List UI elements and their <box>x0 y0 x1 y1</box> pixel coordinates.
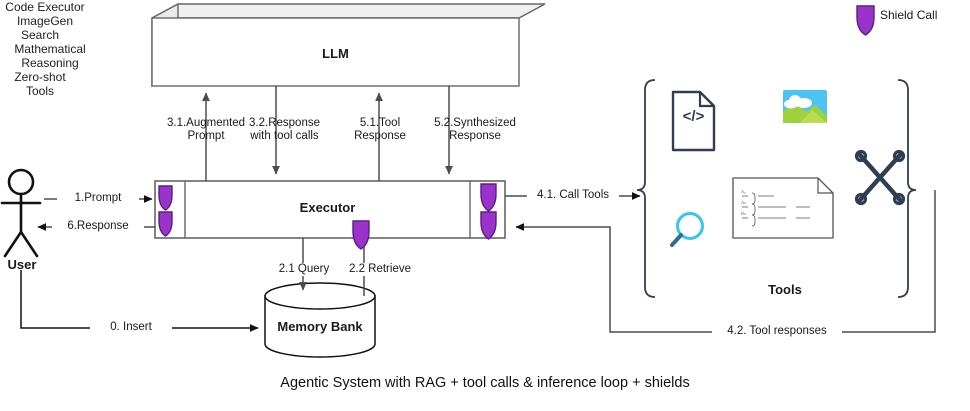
tools-group-label: Tools <box>730 283 840 296</box>
executor-label: Executor <box>185 201 470 214</box>
code-glyph: </> <box>673 108 714 125</box>
svg-text:Aₙ: Aₙ <box>741 200 746 205</box>
diagram-vector-layer: A₀ Aₙ Bₙ <box>0 0 970 411</box>
legend-label: Shield Call <box>880 9 965 22</box>
edge-label-5-1: 5.1.Tool Response <box>334 117 426 143</box>
diagram-canvas: A₀ Aₙ Bₙ <box>0 0 970 411</box>
edge-0-insert <box>21 270 258 328</box>
formula-document-icon: A₀ Aₙ Bₙ <box>733 178 833 238</box>
diagram-caption: Agentic System with RAG + tool calls & i… <box>0 375 970 391</box>
shield-exec-memory <box>353 221 369 249</box>
tools-brace-left <box>637 80 655 297</box>
llm-label: LLM <box>152 47 519 60</box>
edge-label-0-insert: 0. Insert <box>90 321 172 334</box>
edge-4-2-tool-responses <box>516 190 935 332</box>
edge-label-1-prompt: 1.Prompt <box>57 192 139 205</box>
edge-label-2-2-retrieve: 2.2 Retrieve <box>334 263 426 276</box>
edge-label-4-2-tool-responses: 4.2. Tool responses <box>712 325 842 338</box>
svg-text:Bₙ: Bₙ <box>741 211 746 216</box>
tools-brace-right <box>898 80 916 297</box>
edge-label-3-2: 3.2.Response with tool calls <box>232 117 337 143</box>
edge-label-6-response: 6.Response <box>52 220 144 233</box>
user-label: User <box>0 258 44 271</box>
crossed-wrenches-icon <box>857 152 904 204</box>
edge-label-4-1-call-tools: 4.1. Call Tools <box>527 189 619 202</box>
image-icon <box>783 90 827 123</box>
legend-shield-icon <box>857 6 874 35</box>
edge-label-5-2: 5.2.Synthesized Response <box>420 117 530 143</box>
magnifying-glass-icon <box>672 214 703 246</box>
shield-exec-in-top <box>159 186 172 210</box>
shield-exec-in-bottom <box>159 212 172 236</box>
llm-node[interactable] <box>152 4 545 86</box>
user-actor[interactable] <box>2 170 40 256</box>
svg-text:A₀: A₀ <box>741 189 746 194</box>
memory-bank-label: Memory Bank <box>265 320 375 333</box>
